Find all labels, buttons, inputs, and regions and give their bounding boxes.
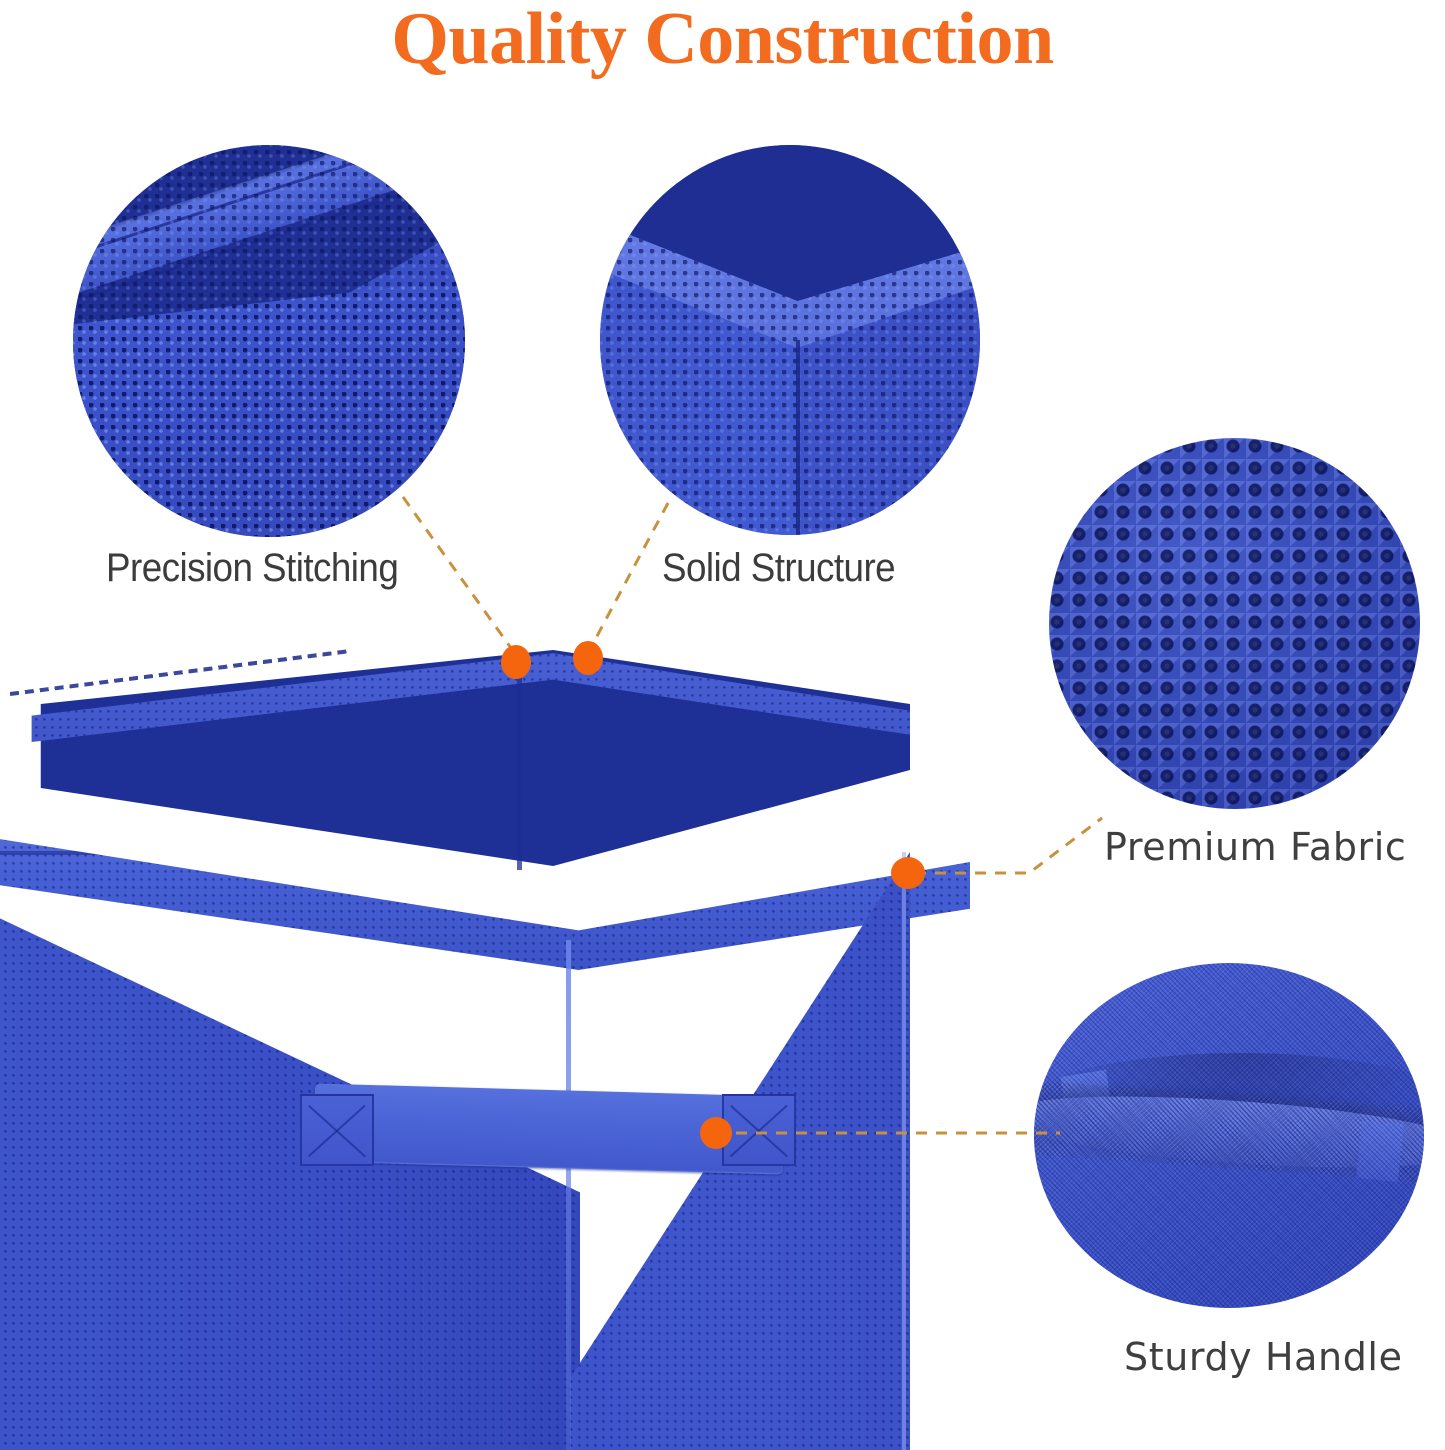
bin-right-edge: [902, 852, 906, 1450]
bin-handle: [290, 1080, 830, 1210]
label-precision-stitching: Precision Stitching: [106, 548, 398, 588]
label-premium-fabric: Premium Fabric: [1104, 828, 1406, 866]
page-title: Quality Construction: [0, 2, 1445, 76]
marker-dot-premium-fabric: [891, 857, 925, 889]
handle-tab-right: [1356, 1120, 1404, 1182]
callout-circle-sturdy-handle: [1034, 963, 1424, 1308]
marker-dot-sturdy-handle: [700, 1117, 732, 1149]
marker-dot-solid-structure: [573, 641, 603, 675]
marker-dot-precision-stitching: [501, 645, 531, 679]
callout-circle-precision-stitching: [73, 145, 465, 537]
product-image-storage-cube: [0, 640, 970, 1440]
handle-stitch-box-left: [300, 1094, 374, 1166]
callout-circle-solid-structure: [600, 145, 980, 535]
corner-vertical-seam: [796, 340, 800, 535]
handle-stitch-box-right: [722, 1094, 796, 1166]
callout-circle-premium-fabric: [1049, 438, 1420, 809]
bin-back-corner-seam: [517, 660, 522, 870]
label-sturdy-handle: Sturdy Handle: [1124, 1338, 1403, 1376]
label-solid-structure: Solid Structure: [662, 548, 895, 588]
